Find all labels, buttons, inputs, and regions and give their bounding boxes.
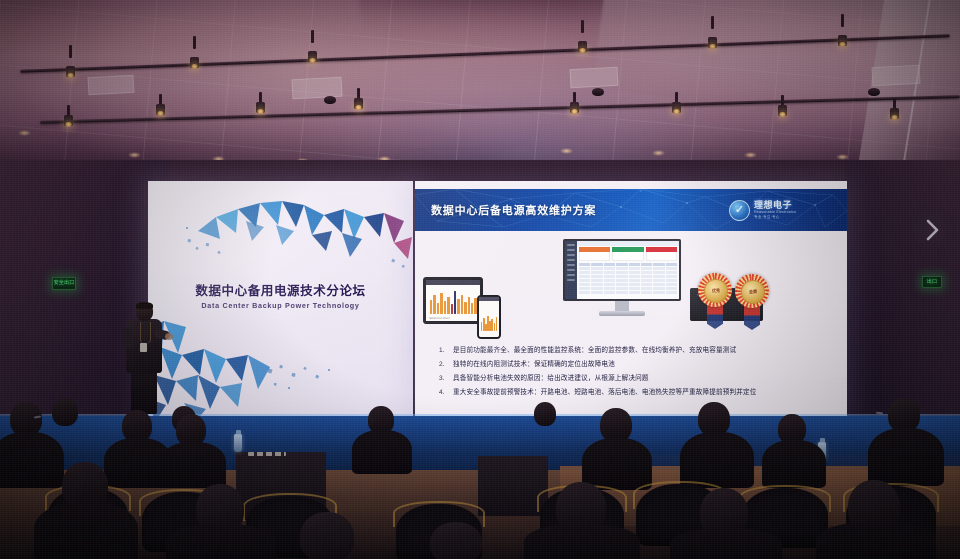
dashboard-sidebar: [565, 241, 577, 299]
spotlight-icon: [708, 27, 717, 47]
status-card-green: [612, 247, 643, 261]
slide-header-bar: 数据中心后备电源高效维护方案 ✓ 理想电子 Reasonable Electro…: [415, 189, 847, 231]
projection-screen-left: CPCC 数据中心备用电源技术分论坛 Data Center Backup Po…: [148, 181, 413, 418]
logo-check-icon: ✓: [729, 200, 750, 221]
security-camera-icon: [868, 88, 880, 96]
audience-head: [698, 402, 730, 436]
exit-sign-right-label: 出口: [927, 280, 937, 285]
spotlight-icon: [890, 98, 899, 118]
spotlight-icon: [354, 88, 363, 108]
spotlight-icon: [672, 92, 681, 112]
tablet-device: tablet-bar-chart: [423, 277, 483, 324]
logo-name-cn: 理想电子: [754, 201, 796, 210]
audience-head: [534, 402, 556, 426]
exit-sign-right: 出口: [922, 276, 942, 288]
exit-sign-left-label: 安全出口: [54, 281, 75, 286]
spotlight-icon: [778, 95, 787, 115]
spotlight-icon: [156, 94, 165, 114]
bullet-number: 1.: [439, 347, 448, 354]
bullet-number: 3.: [439, 375, 448, 382]
audience-shoulders: [670, 528, 782, 559]
dashboard-status-cards: [579, 247, 677, 261]
polygon-ribbon-top: [186, 187, 413, 277]
left-slide-title-cn: 数据中心备用电源技术分论坛: [148, 280, 413, 299]
audience-shoulders: [34, 502, 138, 559]
device-mockup-group: tablet-bar-chart: [415, 235, 847, 340]
water-bottle: [234, 434, 242, 452]
ceiling-vent-2: [292, 77, 343, 100]
list-item: 3. 具备智能分析电池失效的原因：给出改进建议，从根源上解决问题: [439, 375, 837, 383]
award-rosette: 金牌: [735, 274, 769, 308]
monitoring-dashboard: [565, 241, 679, 299]
phone-bar-chart: [481, 315, 497, 331]
chevron-right-icon: [922, 217, 942, 243]
ceiling-downlight: [128, 152, 141, 158]
spotlight-icon: [66, 56, 75, 76]
audience-shoulders: [352, 430, 412, 474]
bullet-text: 具备智能分析电池失效的原因：给出改进建议，从根源上解决问题: [453, 375, 649, 383]
conference-photo: 安全出口 出口: [0, 0, 960, 559]
audience-shoulders: [582, 438, 652, 490]
audience-shoulders: [166, 524, 276, 559]
bullet-text: 是目前功能最齐全、最全面的性能监控系统：全面的监控参数、在线均衡养护、充放电容量…: [453, 347, 736, 355]
audience-head: [300, 512, 354, 559]
ceiling-downlight: [18, 130, 31, 136]
bullet-text: 独特的在线内阻测试技术：保证精确的定位出故障电池: [453, 361, 615, 369]
ceiling-downlight: [744, 152, 757, 158]
award-label: 优秀: [712, 289, 720, 293]
audience-head: [52, 398, 78, 426]
presenter-badge: [140, 343, 147, 352]
dashboard-data-table: [579, 263, 677, 296]
audience-head: [888, 398, 920, 432]
award-rosette-group: 优秀 金牌: [698, 267, 788, 329]
ceiling-vent-4: [872, 65, 921, 86]
ceiling-downlight: [652, 150, 665, 156]
spotlight-icon: [190, 47, 199, 67]
logo-name-en: Reasonable Electronics: [754, 211, 796, 215]
audience-shoulders: [680, 432, 754, 488]
security-camera-icon: [592, 88, 604, 96]
monitor-device: [563, 239, 681, 317]
spotlight-icon: [308, 41, 317, 61]
spotlight-icon: [570, 92, 579, 112]
ceiling-vent-1: [88, 75, 135, 95]
audience-shoulders: [104, 438, 172, 488]
logo-tagline: 专业·专注·专心: [754, 216, 796, 220]
projection-screen-right: 数据中心后备电源高效维护方案 ✓ 理想电子 Reasonable Electro…: [415, 181, 847, 418]
award-label: 金牌: [749, 290, 757, 294]
audience-shoulders: [868, 428, 944, 486]
security-camera-icon: [324, 96, 336, 104]
audience: [0, 392, 960, 559]
spotlight-icon: [838, 25, 847, 45]
spotlight-icon: [578, 31, 587, 51]
list-item: 1. 是目前功能最齐全、最全面的性能监控系统：全面的监控参数、在线均衡养护、充放…: [439, 347, 837, 355]
presenter-lanyard: [140, 322, 151, 344]
right-slide-header-title: 数据中心后备电源高效维护方案: [431, 202, 596, 218]
audience-head: [10, 402, 42, 436]
tablet-bar-chart: [430, 290, 477, 314]
spotlight-icon: [256, 92, 265, 112]
table-papers: [248, 452, 286, 456]
ceiling: [0, 0, 960, 186]
ceiling-downlight: [560, 148, 573, 154]
status-card-orange: [579, 247, 610, 261]
left-slide-title-en: Data Center Backup Power Technology: [148, 301, 413, 310]
status-card-red: [646, 247, 677, 261]
list-item: 2. 独特的在线内阻测试技术：保证精确的定位出故障电池: [439, 361, 837, 369]
exit-sign-left: 安全出口: [52, 277, 76, 290]
phone-device: [477, 295, 501, 339]
next-slide-button[interactable]: [908, 206, 956, 254]
audience-shoulders: [0, 432, 64, 488]
tablet-caption: tablet-bar-chart: [429, 317, 450, 320]
audience-shoulders: [816, 522, 936, 559]
audience-head: [600, 408, 632, 442]
spotlight-icon: [64, 105, 73, 125]
company-logo: ✓ 理想电子 Reasonable Electronics 专业·专注·专心: [729, 195, 837, 225]
bullet-number: 2.: [439, 361, 448, 368]
ceiling-vent-3: [570, 67, 619, 88]
audience-head: [430, 522, 482, 559]
audience-shoulders: [524, 524, 640, 559]
eyeglasses-glint: [876, 412, 883, 415]
award-rosette: 优秀: [698, 273, 732, 307]
audience-shoulders: [762, 440, 826, 488]
